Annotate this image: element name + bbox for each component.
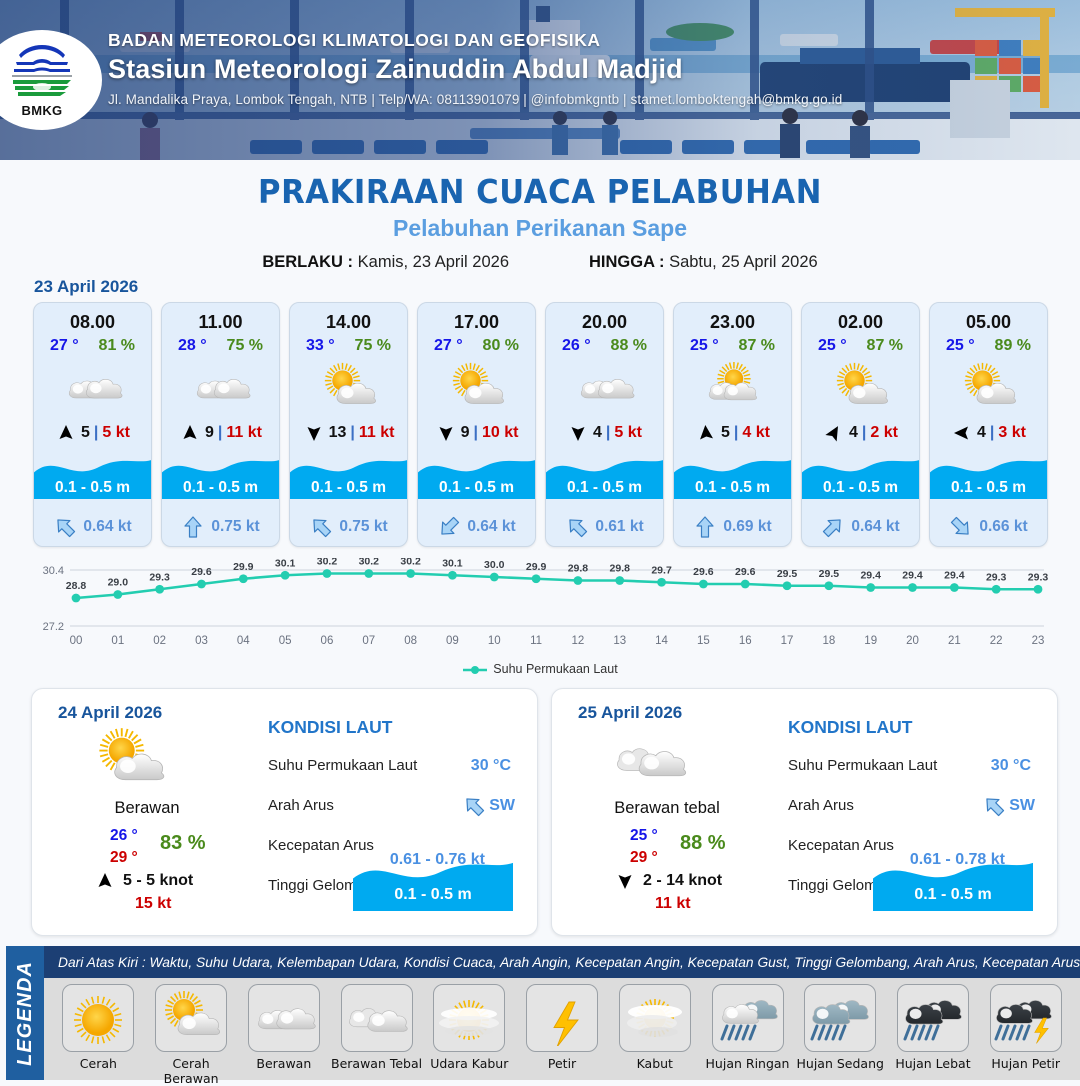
sst-chart-svg: 30.427.228.80029.00129.30229.60329.90430…: [28, 558, 1052, 658]
svg-text:22: 22: [990, 635, 1003, 647]
legenda-items: Cerah Cerah Berawan Berawan Berawan: [44, 978, 1080, 1080]
valid-from-label: BERLAKU :: [262, 253, 353, 271]
svg-text:30.1: 30.1: [275, 558, 296, 569]
bmkg-logo-text: BMKG: [9, 103, 75, 118]
legenda-section: LEGENDA Dari Atas Kiri : Waktu, Suhu Uda…: [0, 946, 1080, 1080]
panel-wave-height: 0.1 - 0.5 m: [353, 886, 513, 904]
wind-direction-icon: [435, 423, 457, 443]
panel-humidity: 83 %: [160, 832, 206, 855]
svg-text:23: 23: [1032, 635, 1045, 647]
svg-text:29.4: 29.4: [860, 570, 881, 582]
card-current-speed: 0.64 kt: [851, 518, 899, 536]
card-wind-speed: 2 kt: [870, 424, 898, 442]
card-humidity: 88 %: [611, 337, 647, 355]
card-wind-degree: 5: [81, 424, 90, 442]
card-wind-row: 4 | 2 kt: [802, 423, 919, 443]
svg-text:29.3: 29.3: [1028, 571, 1049, 583]
card-weather-icon: [34, 359, 151, 417]
svg-text:04: 04: [237, 635, 250, 647]
svg-text:30.2: 30.2: [359, 558, 380, 568]
card-time: 23.00: [674, 312, 791, 333]
sea-row-label: Suhu Permukaan Laut: [788, 757, 937, 774]
current-direction-icon: [462, 795, 486, 817]
card-current-row: 0.75 kt: [162, 516, 279, 538]
hourly-card: 14.00 33 ° 75 % 13 | 11 kt 0.1 - 0.5 m 0…: [289, 302, 408, 547]
legend-icon-box: [248, 984, 320, 1052]
card-wind-row: 5 | 4 kt: [674, 423, 791, 443]
svg-text:17: 17: [781, 635, 794, 647]
card-temperature: 27 °: [434, 337, 463, 355]
panel-weather-icon: [90, 727, 170, 798]
page-title: PRAKIRAAN CUACA PELABUHAN: [38, 172, 1042, 211]
card-wind-speed: 4 kt: [742, 424, 770, 442]
card-wind-separator: |: [350, 424, 354, 442]
card-current-row: 0.66 kt: [930, 516, 1047, 538]
hourly-card: 05.00 25 ° 89 % 4 | 3 kt 0.1 - 0.5 m 0.6…: [929, 302, 1048, 547]
valid-until-label: HINGGA :: [589, 253, 664, 271]
svg-text:29.7: 29.7: [651, 564, 672, 576]
hourly-card: 02.00 25 ° 87 % 4 | 2 kt 0.1 - 0.5 m 0.6…: [801, 302, 920, 547]
card-current-speed: 0.61 kt: [595, 518, 643, 536]
card-current-speed: 0.75 kt: [339, 518, 387, 536]
legend-item: Udara Kabur: [423, 984, 516, 1071]
card-time: 11.00: [162, 312, 279, 333]
svg-text:30.4: 30.4: [43, 565, 64, 577]
panel-humidity: 88 %: [680, 832, 726, 855]
valid-until: HINGGA : Sabtu, 25 April 2026: [589, 253, 818, 272]
sea-row-label: Kecepatan Arus: [268, 837, 374, 854]
wind-direction-icon: [823, 423, 845, 443]
current-direction-icon: [437, 516, 461, 538]
svg-text:29.6: 29.6: [693, 566, 714, 578]
card-time: 08.00: [34, 312, 151, 333]
card-temp-hum-row: 25 ° 87 %: [802, 337, 919, 355]
card-current-row: 0.61 kt: [546, 516, 663, 538]
card-weather-icon: [930, 359, 1047, 417]
svg-text:29.9: 29.9: [526, 561, 547, 573]
card-temp-hum-row: 25 ° 89 %: [930, 337, 1047, 355]
panel-gust-speed: 11 kt: [655, 895, 691, 913]
svg-text:08: 08: [404, 635, 417, 647]
legend-item: Petir: [516, 984, 609, 1071]
panel-weather-icon: [610, 727, 690, 798]
svg-text:19: 19: [864, 635, 877, 647]
card-wind-degree: 4: [977, 424, 986, 442]
card-wind-speed: 5 kt: [614, 424, 642, 442]
hourly-card: 20.00 26 ° 88 % 4 | 5 kt 0.1 - 0.5 m 0.6…: [545, 302, 664, 547]
station-name: Stasiun Meteorologi Zainuddin Abdul Madj…: [108, 54, 842, 85]
card-wind-separator: |: [473, 424, 477, 442]
svg-text:21: 21: [948, 635, 961, 647]
card-current-speed: 0.64 kt: [83, 518, 131, 536]
current-direction-icon: [53, 516, 77, 538]
card-wave-height: 0.1 - 0.5 m: [34, 479, 151, 497]
card-wind-speed: 11 kt: [359, 424, 395, 442]
card-humidity: 87 %: [739, 337, 775, 355]
legend-item-label: Hujan Petir: [991, 1056, 1060, 1071]
wind-direction-icon: [55, 423, 77, 443]
card-current-row: 0.69 kt: [674, 516, 791, 538]
svg-text:07: 07: [362, 635, 375, 647]
legend-icon-box: [62, 984, 134, 1052]
card-wind-speed: 11 kt: [226, 424, 262, 442]
svg-text:15: 15: [697, 635, 710, 647]
svg-text:30.0: 30.0: [484, 559, 505, 571]
legend-item: Berawan: [237, 984, 330, 1071]
card-time: 20.00: [546, 312, 663, 333]
card-temp-hum-row: 25 ° 87 %: [674, 337, 791, 355]
sea-current-dir: SW: [982, 795, 1035, 817]
svg-text:09: 09: [446, 635, 459, 647]
card-wave-height: 0.1 - 0.5 m: [802, 479, 919, 497]
legend-item: Berawan Tebal: [330, 984, 423, 1071]
card-wind-degree: 9: [461, 424, 470, 442]
daily-forecast-panel: 25 April 2026 Berawan tebal 25 ° 29 ° 88…: [551, 688, 1058, 936]
legend-item: Hujan Ringan: [701, 984, 794, 1071]
card-humidity: 75 %: [355, 337, 391, 355]
legend-icon-box: [619, 984, 691, 1052]
panel-wind-speed: 5 - 5 knot: [123, 872, 193, 890]
legend-item-label: Cerah: [80, 1056, 117, 1071]
card-weather-icon: [290, 359, 407, 417]
current-direction-icon: [181, 516, 205, 538]
card-current-row: 0.64 kt: [418, 516, 535, 538]
card-weather-icon: [674, 359, 791, 417]
wind-direction-icon: [94, 871, 116, 891]
svg-text:20: 20: [906, 635, 919, 647]
legend-item: Kabut: [608, 984, 701, 1071]
svg-text:29.6: 29.6: [191, 566, 212, 578]
svg-text:01: 01: [111, 635, 124, 647]
panel-temp-max: 29 °: [110, 849, 138, 867]
panel-gust-speed: 15 kt: [135, 895, 171, 913]
svg-text:29.6: 29.6: [735, 566, 756, 578]
card-weather-icon: [418, 359, 535, 417]
card-wind-degree: 4: [849, 424, 858, 442]
svg-text:13: 13: [613, 635, 626, 647]
svg-text:30.2: 30.2: [317, 558, 338, 568]
valid-from: BERLAKU : Kamis, 23 April 2026: [262, 253, 509, 272]
page-header: BMKG BADAN METEOROLOGI KLIMATOLOGI DAN G…: [0, 0, 1080, 160]
card-wind-separator: |: [862, 424, 866, 442]
legend-item-label: Cerah Berawan: [145, 1056, 238, 1086]
svg-text:10: 10: [488, 635, 501, 647]
svg-text:11: 11: [530, 635, 542, 647]
legend-icon-box: [526, 984, 598, 1052]
legend-item: Hujan Petir: [979, 984, 1072, 1071]
card-temperature: 26 °: [562, 337, 591, 355]
svg-text:30.2: 30.2: [400, 558, 421, 568]
daily-forecast-panel: 24 April 2026 Berawan 26 ° 29 ° 83 % 5 -…: [31, 688, 538, 936]
wind-direction-icon: [179, 423, 201, 443]
legenda-side-tab: LEGENDA: [6, 946, 44, 1080]
chart-legend: Suhu Permukaan Laut: [0, 662, 1080, 676]
legend-item: Cerah Berawan: [145, 984, 238, 1086]
card-wind-separator: |: [218, 424, 222, 442]
legend-item-label: Petir: [548, 1056, 576, 1071]
svg-text:02: 02: [153, 635, 166, 647]
card-wind-row: 13 | 11 kt: [290, 423, 407, 443]
legend-item: Hujan Lebat: [887, 984, 980, 1071]
card-wind-row: 9 | 11 kt: [162, 423, 279, 443]
card-wind-separator: |: [94, 424, 98, 442]
card-wave-height: 0.1 - 0.5 m: [290, 479, 407, 497]
card-time: 02.00: [802, 312, 919, 333]
svg-text:14: 14: [655, 635, 668, 647]
card-current-row: 0.64 kt: [802, 516, 919, 538]
card-weather-icon: [162, 359, 279, 417]
card-time: 14.00: [290, 312, 407, 333]
svg-text:29.8: 29.8: [568, 563, 589, 575]
card-time: 05.00: [930, 312, 1047, 333]
hourly-forecast-row: 08.00 27 ° 81 % 5 | 5 kt 0.1 - 0.5 m 0.6…: [33, 302, 1048, 547]
svg-text:27.2: 27.2: [43, 621, 64, 633]
hourly-card: 11.00 28 ° 75 % 9 | 11 kt 0.1 - 0.5 m 0.…: [161, 302, 280, 547]
card-humidity: 87 %: [867, 337, 903, 355]
card-weather-icon: [546, 359, 663, 417]
card-temp-hum-row: 33 ° 75 %: [290, 337, 407, 355]
legend-item: Cerah: [52, 984, 145, 1071]
bmkg-emblem-icon: [9, 43, 75, 105]
legend-icon-box: [990, 984, 1062, 1052]
sea-current-dir: SW: [462, 795, 515, 817]
card-wind-row: 4 | 5 kt: [546, 423, 663, 443]
card-wind-degree: 4: [593, 424, 602, 442]
legend-icon-box: [804, 984, 876, 1052]
legend-item-label: Berawan Tebal: [331, 1056, 422, 1071]
svg-text:29.5: 29.5: [777, 568, 798, 580]
card-current-speed: 0.66 kt: [979, 518, 1027, 536]
card-temperature: 27 °: [50, 337, 79, 355]
card-time: 17.00: [418, 312, 535, 333]
validity-row: BERLAKU : Kamis, 23 April 2026 HINGGA : …: [0, 253, 1080, 272]
sea-row-label: Suhu Permukaan Laut: [268, 757, 417, 774]
card-wave-height: 0.1 - 0.5 m: [162, 479, 279, 497]
card-wind-speed: 3 kt: [998, 424, 1026, 442]
svg-text:29.3: 29.3: [986, 571, 1007, 583]
chart-legend-label: Suhu Permukaan Laut: [493, 662, 617, 676]
panel-wind-row: 5 - 5 knot: [94, 871, 193, 891]
panel-date: 25 April 2026: [578, 703, 682, 723]
wind-direction-icon: [567, 423, 589, 443]
wind-direction-icon: [303, 423, 325, 443]
valid-from-value: Kamis, 23 April 2026: [358, 253, 509, 271]
card-humidity: 75 %: [227, 337, 263, 355]
panel-date: 24 April 2026: [58, 703, 162, 723]
svg-text:06: 06: [321, 635, 334, 647]
legenda-side-label: LEGENDA: [14, 961, 37, 1066]
hourly-card: 23.00 25 ° 87 % 5 | 4 kt 0.1 - 0.5 m 0.6…: [673, 302, 792, 547]
current-direction-icon: [693, 516, 717, 538]
agency-name: BADAN METEOROLOGI KLIMATOLOGI DAN GEOFIS…: [108, 30, 842, 51]
page-subtitle: Pelabuhan Perikanan Sape: [0, 215, 1080, 242]
panel-temp-max: 29 °: [630, 849, 658, 867]
card-temp-hum-row: 28 ° 75 %: [162, 337, 279, 355]
sea-sst-value: 30 °C: [991, 757, 1031, 775]
card-wind-speed: 10 kt: [482, 424, 518, 442]
hourly-card: 08.00 27 ° 81 % 5 | 5 kt 0.1 - 0.5 m 0.6…: [33, 302, 152, 547]
card-wind-degree: 9: [205, 424, 214, 442]
legend-item-label: Hujan Sedang: [797, 1056, 884, 1071]
contact-line: Jl. Mandalika Praya, Lombok Tengah, NTB …: [108, 92, 842, 107]
wind-direction-icon: [951, 423, 973, 443]
legend-item: Hujan Sedang: [794, 984, 887, 1071]
legenda-caption: Dari Atas Kiri : Waktu, Suhu Udara, Kele…: [58, 955, 1080, 970]
card-temperature: 33 °: [306, 337, 335, 355]
svg-text:29.3: 29.3: [149, 571, 170, 583]
daily-panels: 24 April 2026 Berawan 26 ° 29 ° 83 % 5 -…: [31, 688, 1058, 936]
sea-current-dir-value: SW: [1009, 797, 1035, 815]
sea-row-label: Arah Arus: [268, 797, 334, 814]
card-wave-height: 0.1 - 0.5 m: [674, 479, 791, 497]
legend-item-label: Hujan Ringan: [706, 1056, 790, 1071]
card-temp-hum-row: 27 ° 81 %: [34, 337, 151, 355]
panel-wave-height: 0.1 - 0.5 m: [873, 886, 1033, 904]
card-humidity: 81 %: [99, 337, 135, 355]
current-direction-icon: [982, 795, 1006, 817]
svg-text:12: 12: [572, 635, 585, 647]
hourly-card: 17.00 27 ° 80 % 9 | 10 kt 0.1 - 0.5 m 0.…: [417, 302, 536, 547]
panel-condition: Berawan: [32, 799, 262, 818]
card-wind-row: 4 | 3 kt: [930, 423, 1047, 443]
card-wind-degree: 13: [329, 424, 347, 442]
legend-item-label: Udara Kabur: [430, 1056, 508, 1071]
svg-text:16: 16: [739, 635, 752, 647]
legend-icon-box: [433, 984, 505, 1052]
legend-item-label: Kabut: [637, 1056, 673, 1071]
card-temperature: 28 °: [178, 337, 207, 355]
card-temp-hum-row: 27 ° 80 %: [418, 337, 535, 355]
panel-wind-speed: 2 - 14 knot: [643, 872, 722, 890]
card-wave-height: 0.1 - 0.5 m: [546, 479, 663, 497]
card-current-row: 0.64 kt: [34, 516, 151, 538]
svg-text:29.9: 29.9: [233, 561, 254, 573]
card-wind-degree: 5: [721, 424, 730, 442]
panel-sea-title: KONDISI LAUT: [788, 717, 912, 738]
legend-item-label: Berawan: [256, 1056, 311, 1071]
card-wind-row: 5 | 5 kt: [34, 423, 151, 443]
card-weather-icon: [802, 359, 919, 417]
panel-wind-row: 2 - 14 knot: [614, 871, 722, 891]
card-wave-height: 0.1 - 0.5 m: [930, 479, 1047, 497]
current-direction-icon: [309, 516, 333, 538]
card-wave-height: 0.1 - 0.5 m: [418, 479, 535, 497]
legend-icon-box: [155, 984, 227, 1052]
panel-temp-min: 26 °: [110, 827, 138, 845]
legend-icon-box: [897, 984, 969, 1052]
legenda-caption-bar: Dari Atas Kiri : Waktu, Suhu Udara, Kele…: [44, 946, 1080, 978]
legend-icon-box: [712, 984, 784, 1052]
title-block: PRAKIRAAN CUACA PELABUHAN Pelabuhan Peri…: [0, 160, 1080, 272]
card-humidity: 89 %: [995, 337, 1031, 355]
sea-sst-value: 30 °C: [471, 757, 511, 775]
card-temperature: 25 °: [818, 337, 847, 355]
card-current-row: 0.75 kt: [290, 516, 407, 538]
current-direction-icon: [565, 516, 589, 538]
card-current-speed: 0.64 kt: [467, 518, 515, 536]
svg-text:00: 00: [70, 635, 83, 647]
svg-text:29.4: 29.4: [944, 570, 965, 582]
card-current-speed: 0.69 kt: [723, 518, 771, 536]
card-wind-separator: |: [734, 424, 738, 442]
card-temperature: 25 °: [946, 337, 975, 355]
wind-direction-icon: [695, 423, 717, 443]
valid-until-value: Sabtu, 25 April 2026: [669, 253, 818, 271]
sea-row-label: Arah Arus: [788, 797, 854, 814]
panel-condition: Berawan tebal: [552, 799, 782, 818]
svg-text:05: 05: [279, 635, 292, 647]
current-direction-icon: [821, 516, 845, 538]
header-text-block: BADAN METEOROLOGI KLIMATOLOGI DAN GEOFIS…: [108, 30, 842, 107]
chart-legend-swatch-icon: [462, 665, 488, 675]
svg-text:29.8: 29.8: [610, 563, 631, 575]
sea-row-label: Kecepatan Arus: [788, 837, 894, 854]
card-wind-separator: |: [990, 424, 994, 442]
card-current-speed: 0.75 kt: [211, 518, 259, 536]
card-temperature: 25 °: [690, 337, 719, 355]
legend-item-label: Hujan Lebat: [895, 1056, 970, 1071]
wind-direction-icon: [614, 871, 636, 891]
svg-text:28.8: 28.8: [66, 580, 87, 592]
panel-temp-min: 25 °: [630, 827, 658, 845]
panel-sea-title: KONDISI LAUT: [268, 717, 392, 738]
card-humidity: 80 %: [483, 337, 519, 355]
svg-text:29.5: 29.5: [819, 568, 840, 580]
sst-chart: 30.427.228.80029.00129.30229.60329.90430…: [28, 558, 1052, 658]
sea-current-dir-value: SW: [489, 797, 515, 815]
svg-text:29.4: 29.4: [902, 570, 923, 582]
svg-text:29.0: 29.0: [108, 577, 129, 589]
svg-text:18: 18: [822, 635, 835, 647]
hourly-date-label: 23 April 2026: [34, 277, 138, 297]
svg-text:30.1: 30.1: [442, 558, 463, 569]
card-wind-speed: 5 kt: [102, 424, 130, 442]
card-temp-hum-row: 26 ° 88 %: [546, 337, 663, 355]
card-wind-row: 9 | 10 kt: [418, 423, 535, 443]
card-wind-separator: |: [606, 424, 610, 442]
svg-text:03: 03: [195, 635, 208, 647]
current-direction-icon: [949, 516, 973, 538]
legend-icon-box: [341, 984, 413, 1052]
